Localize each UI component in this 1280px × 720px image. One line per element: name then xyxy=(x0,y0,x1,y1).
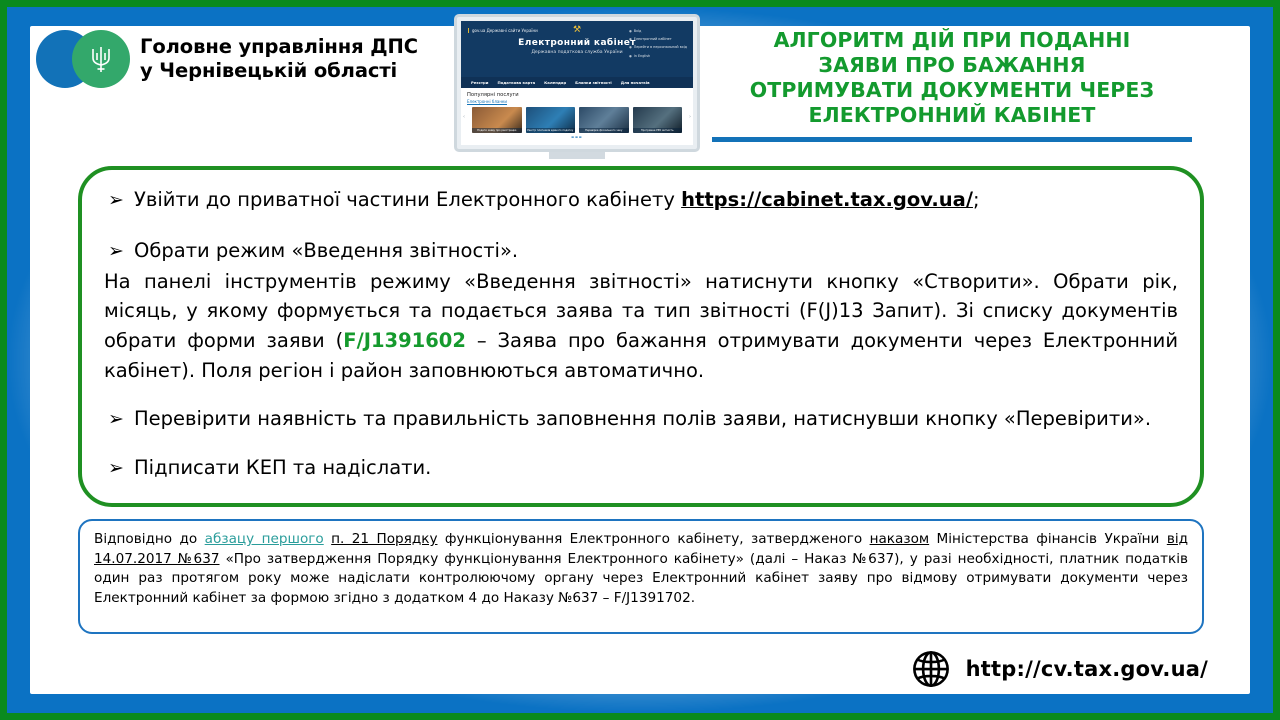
site-menu-item-2: Перейти в персональний вхід xyxy=(629,43,687,51)
step-item-4-text: Перевірити наявність та правильність зап… xyxy=(134,405,1178,434)
step-item-5: ➢ Підписати КЕП та надіслати. xyxy=(104,454,1178,483)
site-menu-item-3: In English xyxy=(629,52,687,60)
site-nav-item-1: Податкова карта xyxy=(497,80,535,85)
spacer xyxy=(104,215,1178,237)
note-link-abzacu[interactable]: абзацу першого xyxy=(205,531,324,547)
monitor-illustration: gov.ua Державні сайти України ⚒ Електрон… xyxy=(446,14,708,161)
note-s3: функціонування Електронного кабінету, за… xyxy=(438,531,870,547)
site-body: Популярні послуги Електронні бланки ‹ › … xyxy=(461,88,693,145)
spacer xyxy=(104,385,1178,405)
slide: Головне управління ДПС у Чернівецькій об… xyxy=(0,0,1280,720)
legal-note-text: Відповідно до абзацу першого п. 21 Поряд… xyxy=(94,530,1188,608)
step-item-1-text: Увійти до приватної частини Електронного… xyxy=(134,186,1178,215)
globe-icon xyxy=(910,648,952,690)
title-underline-rule xyxy=(712,137,1192,142)
site-footer-column: Сервіси Пошук фіскального чека xyxy=(545,141,609,145)
service-cards: Подати заяву про реєстрацію Реєстр платн… xyxy=(467,107,687,133)
organization-logo: Головне управління ДПС у Чернівецькій об… xyxy=(36,30,418,88)
step-1-prefix: Увійти до приватної частини Електронного… xyxy=(134,188,681,211)
ukraine-trident-icon xyxy=(88,43,114,75)
note-underline-nakazom: наказом xyxy=(870,531,930,547)
step-item-5-text: Підписати КЕП та надіслати. xyxy=(134,454,1178,483)
service-card-caption: Перевірка фіскального чеку xyxy=(579,128,629,133)
step-1-suffix: ; xyxy=(973,188,980,211)
site-header: gov.ua Державні сайти України ⚒ Електрон… xyxy=(461,21,693,88)
step-item-2: ➢ Обрати режим «Введення звітності». xyxy=(104,237,1178,266)
step-item-2-text: Обрати режим «Введення звітності». xyxy=(134,237,1178,266)
service-card: Програмне РРО звітність xyxy=(633,107,683,133)
bullet-arrow-icon: ➢ xyxy=(104,237,134,265)
gov-ua-label: gov.ua Державні сайти України xyxy=(468,28,538,33)
site-nav-item-4: Для початків xyxy=(621,80,650,85)
service-card-caption: Програмне РРО звітність xyxy=(633,128,683,133)
organization-name: Головне управління ДПС у Чернівецькій об… xyxy=(140,35,418,83)
bullet-arrow-icon: ➢ xyxy=(104,405,134,433)
steps-box: ➢ Увійти до приватної частини Електронно… xyxy=(78,166,1204,507)
monitor-screen: gov.ua Державні сайти України ⚒ Електрон… xyxy=(461,21,693,145)
slide-title: АЛГОРИТМ ДІЙ ПРИ ПОДАННІ ЗАЯВИ ПРО БАЖАН… xyxy=(712,28,1192,128)
bullet-arrow-icon: ➢ xyxy=(104,454,134,482)
site-nav-item-3: Бланки звітності xyxy=(575,80,612,85)
note-s1: Відповідно до xyxy=(94,531,205,547)
site-footer-column: Програми РРО Програмне касове рішення бе… xyxy=(617,141,681,145)
step-item-1: ➢ Увійти до приватної частини Електронно… xyxy=(104,186,1178,215)
service-card-caption: Реєстр платників єдиного податку xyxy=(526,128,576,133)
service-card-caption: Подати заяву про реєстрацію xyxy=(472,128,522,133)
monitor-bezel: gov.ua Державні сайти України ⚒ Електрон… xyxy=(454,14,700,152)
carousel-dots-icon: ▬▬▬ xyxy=(467,135,687,139)
bullet-arrow-icon: ➢ xyxy=(104,186,134,214)
site-right-menu: Вхід Електронний кабінет Перейти в персо… xyxy=(629,27,687,60)
service-card: Подати заяву про реєстрацію xyxy=(472,107,522,133)
slide-title-block: АЛГОРИТМ ДІЙ ПРИ ПОДАННІ ЗАЯВИ ПРО БАЖАН… xyxy=(712,28,1192,142)
step-item-4: ➢ Перевірити наявність та правильність з… xyxy=(104,405,1178,434)
site-url-text[interactable]: http://cv.tax.gov.ua/ xyxy=(966,657,1208,681)
carousel-prev-icon: ‹ xyxy=(463,114,465,120)
popular-services-heading: Популярні послуги xyxy=(467,92,687,98)
site-nav-item-2: Календар xyxy=(544,80,566,85)
slide-header: Головне управління ДПС у Чернівецькій об… xyxy=(0,0,1280,165)
note-s5: «Про затвердження Порядку функціонування… xyxy=(94,551,1188,606)
site-menu-item-1: Електронний кабінет xyxy=(629,35,687,43)
carousel-next-icon: › xyxy=(689,114,691,120)
site-footer-columns: Реєстри Реєстри платників податків і збо… xyxy=(467,141,687,145)
site-menu-item-0: Вхід xyxy=(629,27,687,35)
site-trident-icon: ⚒ xyxy=(573,25,581,35)
cabinet-url-link[interactable]: https://cabinet.tax.gov.ua/ xyxy=(681,188,973,211)
site-footer-column: Реєстри Реєстри платників податків і збо… xyxy=(473,141,537,145)
note-s4: Міністерства фінансів України xyxy=(929,531,1167,547)
popular-services-link: Електронні бланки xyxy=(467,99,687,104)
service-card: Реєстр платників єдиного податку xyxy=(526,107,576,133)
service-card: Перевірка фіскального чеку xyxy=(579,107,629,133)
note-underline-p21: п. 21 Порядку xyxy=(331,531,437,547)
monitor-stand xyxy=(549,152,605,159)
site-nav-item-0: Реєстри xyxy=(471,80,488,85)
logo-green-circle-icon xyxy=(72,30,130,88)
spacer xyxy=(104,434,1178,454)
site-nav: Реєстри Податкова карта Календар Бланки … xyxy=(461,77,693,88)
step-item-3-paragraph: На панелі інструментів режиму «Введення … xyxy=(104,267,1178,386)
site-url-row: http://cv.tax.gov.ua/ xyxy=(910,648,1208,690)
legal-note-box: Відповідно до абзацу першого п. 21 Поряд… xyxy=(78,519,1204,634)
form-code-fj1391602: F/J1391602 xyxy=(343,329,466,352)
